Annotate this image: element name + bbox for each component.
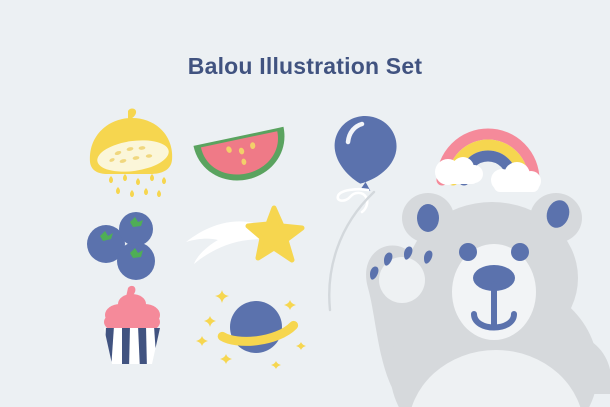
cupcake-frosting	[104, 286, 160, 335]
illustration-blueberries	[84, 208, 170, 284]
bear-string-wisp	[329, 192, 374, 310]
illustration-canvas: Balou Illustration Set	[0, 0, 610, 407]
shooting-star-body	[248, 208, 302, 260]
illustration-bear	[316, 180, 610, 407]
blueberry-2	[119, 212, 153, 246]
illustration-lemon	[78, 108, 188, 200]
lemon-body	[90, 109, 172, 176]
bear-eye-right	[511, 243, 529, 261]
page-title: Balou Illustration Set	[0, 53, 610, 80]
illustration-watermelon	[192, 120, 292, 186]
illustration-cupcake	[90, 284, 174, 368]
illustration-shooting-star	[182, 206, 304, 268]
lemon-juice-drops	[109, 174, 166, 197]
cupcake-wrapper	[100, 326, 164, 370]
balloon-body	[330, 112, 401, 191]
bear-eye-left	[459, 243, 477, 261]
illustration-planet	[198, 282, 308, 370]
blueberry-3	[117, 242, 155, 280]
